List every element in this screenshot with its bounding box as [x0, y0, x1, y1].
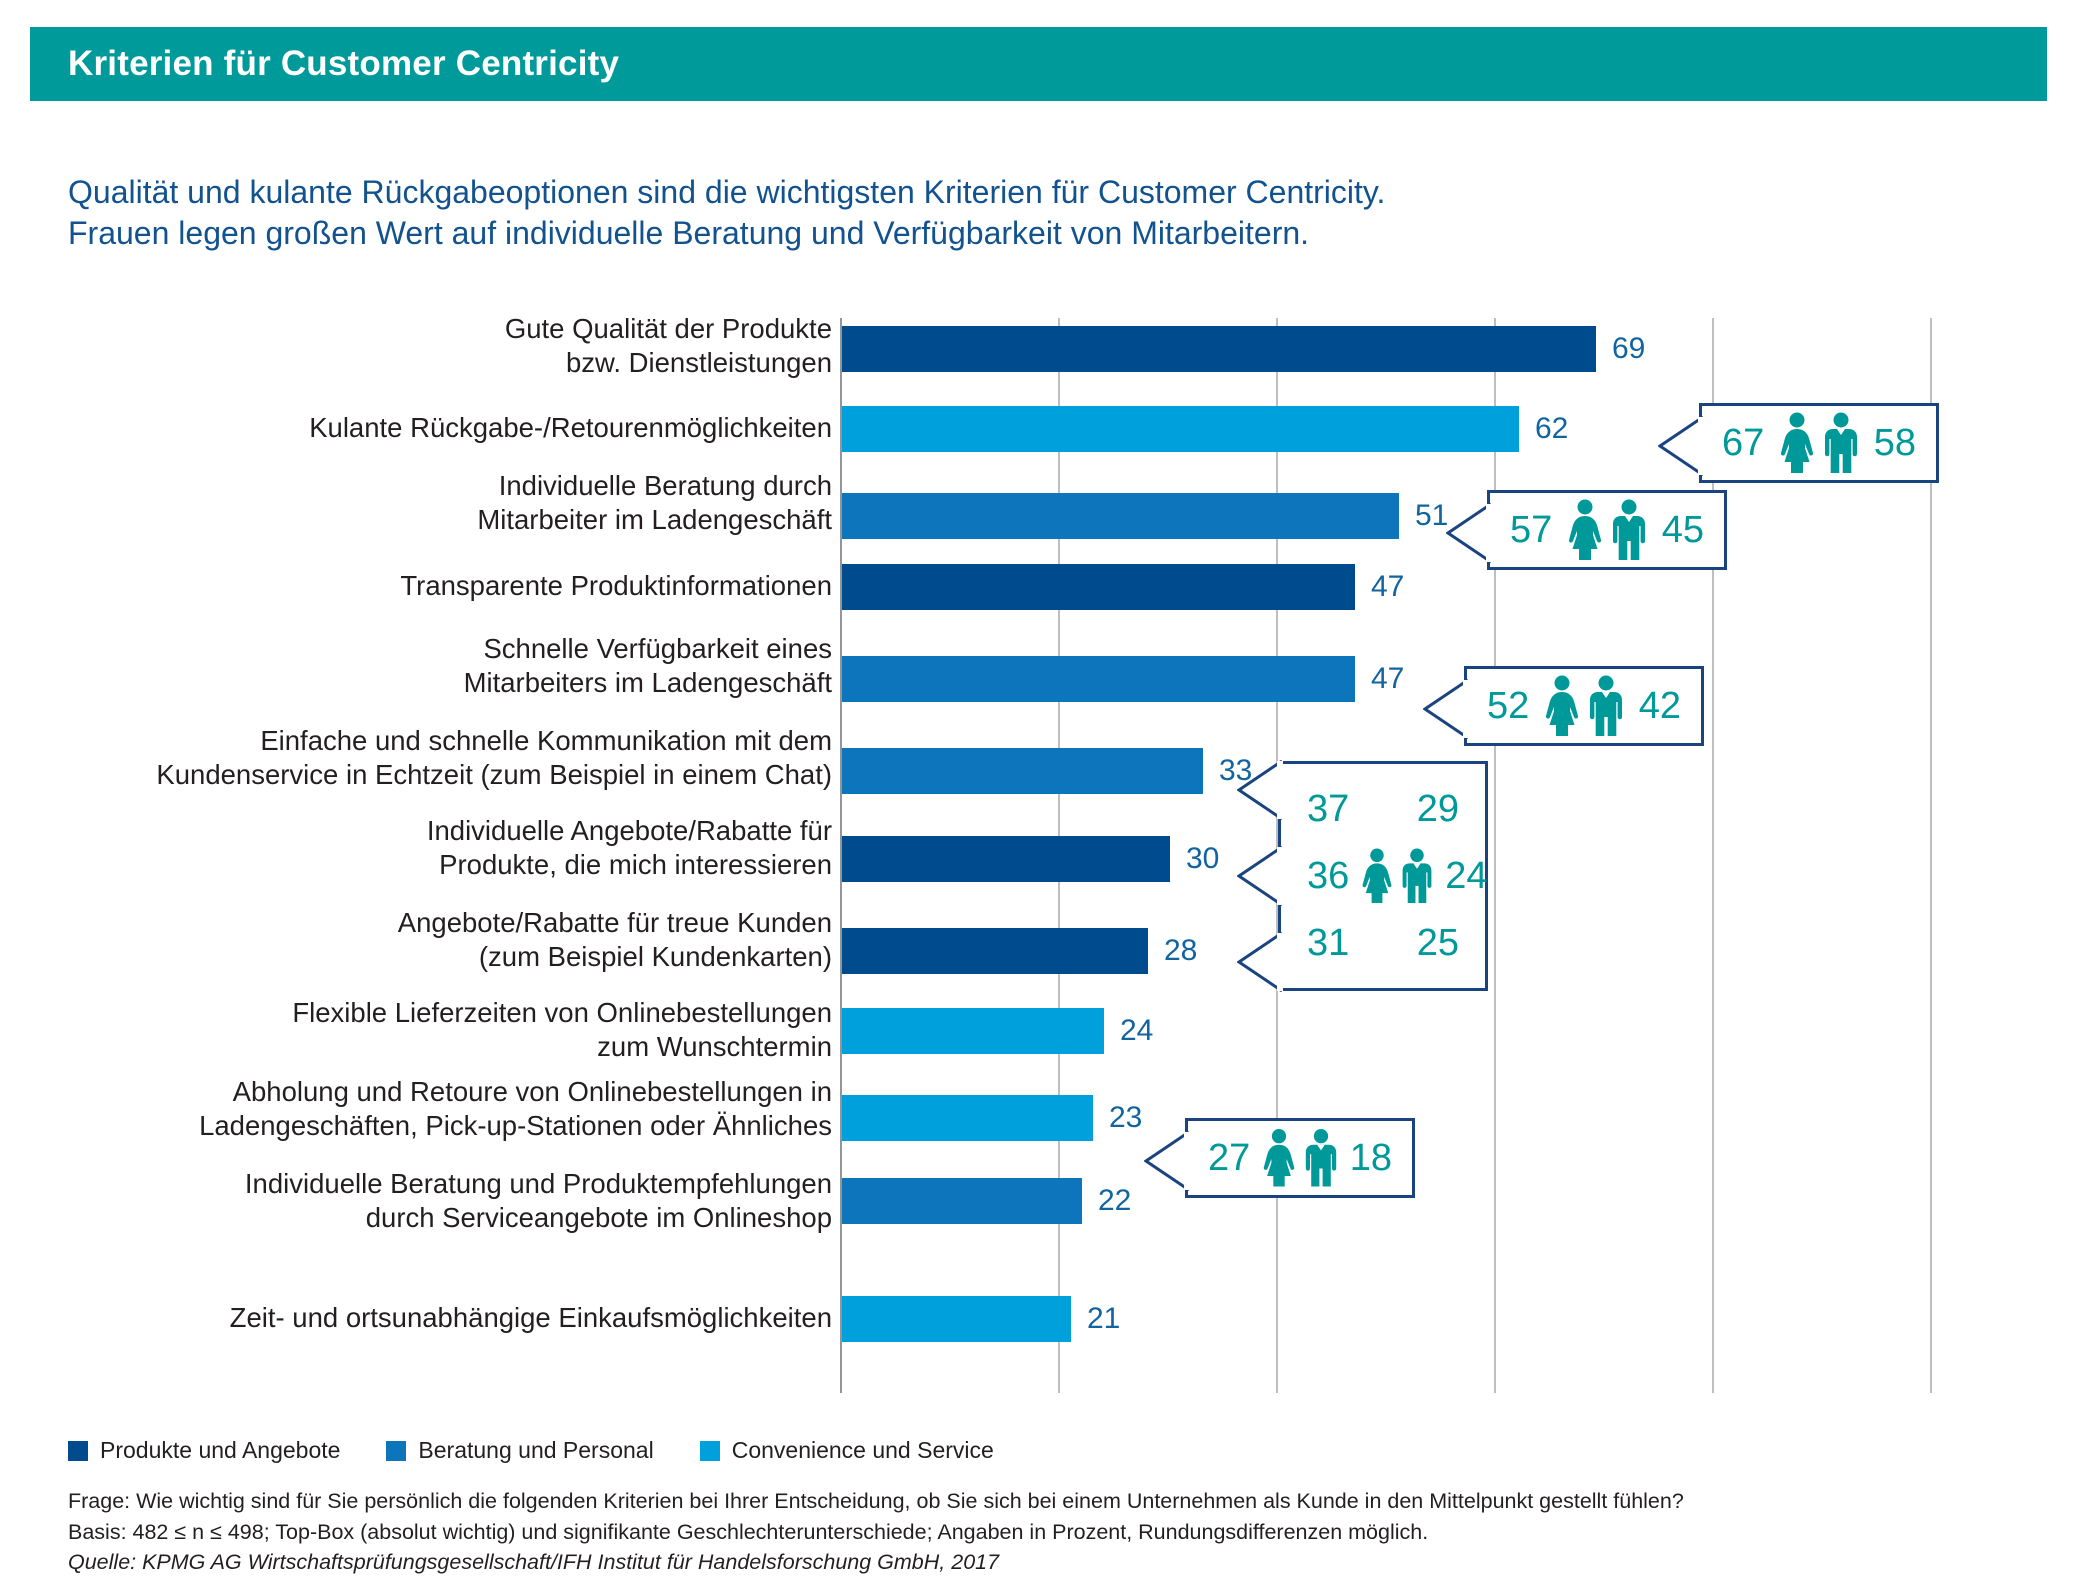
- callout-male-value: 24: [1445, 855, 1487, 898]
- callout-notch: [1423, 679, 1467, 739]
- category-label: Gute Qualität der Produktebzw. Dienstlei…: [2, 312, 832, 380]
- female-icon: [1359, 847, 1395, 905]
- legend-label: Beratung und Personal: [418, 1437, 653, 1464]
- callout-male-value: 18: [1350, 1137, 1392, 1180]
- callout-notch-bottom: [1237, 932, 1281, 992]
- category-label: Abholung und Retoure von Onlinebestellun…: [0, 1075, 832, 1143]
- gender-icons: [1542, 675, 1626, 737]
- category-label-line1: Angebote/Rabatte für treue Kunden: [398, 907, 832, 938]
- callout-notch-top: [1237, 760, 1281, 820]
- bar-chart: Gute Qualität der Produktebzw. Dienstlei…: [0, 318, 2077, 1398]
- gender-callout-individuelle-beratung: 57 45: [1487, 490, 1727, 570]
- gender-callout-triple-group: 37 29 36 24 31 25: [1278, 761, 1488, 991]
- bar-segment: [842, 1296, 1071, 1342]
- legend-swatch-icon: [700, 1441, 720, 1461]
- category-label-line2: bzw. Dienstleistungen: [566, 347, 832, 378]
- gender-icons: [1260, 1128, 1340, 1188]
- footnote-frage: Frage: Wie wichtig sind für Sie persönli…: [68, 1486, 2028, 1517]
- bar-value-label: 69: [1612, 326, 1645, 372]
- female-icon: [1542, 675, 1582, 737]
- category-label-line1: Kulante Rückgabe-/Retourenmöglichkeiten: [309, 412, 832, 443]
- bar-value-label: 62: [1535, 406, 1568, 452]
- category-label: Flexible Lieferzeiten von Onlinebestellu…: [2, 996, 832, 1064]
- bar-value-label: 30: [1186, 836, 1219, 882]
- callout-female-value: 67: [1722, 422, 1764, 465]
- legend-label: Convenience und Service: [732, 1437, 994, 1464]
- callout-female-value: 37: [1307, 788, 1349, 831]
- callout-male-value: 58: [1874, 422, 1916, 465]
- category-label-line2: zum Wunschtermin: [597, 1031, 832, 1062]
- legend-swatch-icon: [386, 1441, 406, 1461]
- legend-item-beratung: Beratung und Personal: [386, 1437, 653, 1464]
- female-icon: [1777, 412, 1817, 474]
- bar-value-label: 24: [1120, 1008, 1153, 1054]
- bar-value-label: 22: [1098, 1178, 1131, 1224]
- footnote-basis: Basis: 482 ≤ n ≤ 498; Top-Box (absolut w…: [68, 1517, 2028, 1548]
- footnote-quelle: Quelle: KPMG AG Wirtschaftsprüfungsgesel…: [68, 1547, 2028, 1578]
- bar-value-label: 47: [1371, 656, 1404, 702]
- callout-row-1: 37 29: [1281, 778, 1485, 840]
- category-label: Transparente Produktinformationen: [2, 569, 832, 603]
- category-label: Kulante Rückgabe-/Retourenmöglichkeiten: [2, 411, 832, 445]
- category-label-line1: Transparente Produktinformationen: [400, 570, 832, 601]
- bar-value-label: 51: [1415, 493, 1448, 539]
- legend-item-convenience: Convenience und Service: [700, 1437, 994, 1464]
- bar-segment: [842, 1095, 1093, 1141]
- male-icon: [1609, 499, 1649, 561]
- gridline-60: [1494, 318, 1496, 1393]
- callout-notch: [1658, 416, 1702, 476]
- callout-male-value: 45: [1662, 509, 1704, 552]
- bar-segment: [842, 1178, 1082, 1224]
- category-label-line2: durch Serviceangebote im Onlineshop: [366, 1202, 832, 1233]
- category-label: Individuelle Beratung durchMitarbeiter i…: [2, 469, 832, 537]
- bar-value-label: 23: [1109, 1095, 1142, 1141]
- subtitle-line-2: Frauen legen großen Wert auf individuell…: [68, 213, 1998, 254]
- category-label-line2: (zum Beispiel Kundenkarten): [479, 941, 832, 972]
- legend-swatch-icon: [68, 1441, 88, 1461]
- category-label-line2: Mitarbeiters im Ladengeschäft: [464, 667, 832, 698]
- category-label-line1: Abholung und Retoure von Onlinebestellun…: [233, 1076, 832, 1107]
- callout-notch-mid: [1237, 846, 1281, 906]
- callout-female-value: 36: [1307, 855, 1349, 898]
- gender-callout-kulante-rueckgabe: 67 58: [1699, 403, 1939, 483]
- category-label-line1: Individuelle Beratung durch: [499, 470, 832, 501]
- gender-callout-abholung-retoure: 27 18: [1185, 1118, 1415, 1198]
- bar-segment: [842, 656, 1355, 702]
- category-label: Individuelle Angebote/Rabatte fürProdukt…: [2, 814, 832, 882]
- bar-value-label: 47: [1371, 564, 1404, 610]
- subtitle-line-1: Qualität und kulante Rückgabeoptionen si…: [68, 172, 1998, 213]
- bar-value-label: 28: [1164, 928, 1197, 974]
- footnotes: Frage: Wie wichtig sind für Sie persönli…: [68, 1486, 2028, 1578]
- category-label: Einfache und schnelle Kommunikation mit …: [0, 724, 832, 792]
- male-icon: [1586, 675, 1626, 737]
- male-icon: [1399, 847, 1435, 905]
- female-icon: [1260, 1128, 1298, 1188]
- gender-icons: [1777, 412, 1861, 474]
- callout-notch: [1446, 503, 1490, 563]
- category-label-line1: Einfache und schnelle Kommunikation mit …: [260, 725, 832, 756]
- category-label-line1: Individuelle Angebote/Rabatte für: [427, 815, 832, 846]
- female-icon: [1565, 499, 1605, 561]
- category-label-line1: Flexible Lieferzeiten von Onlinebestellu…: [292, 997, 832, 1028]
- bar-segment: [842, 493, 1399, 539]
- callout-notch: [1144, 1131, 1188, 1191]
- bar-segment: [842, 406, 1519, 452]
- callout-female-value: 52: [1487, 685, 1529, 728]
- callout-female-value: 31: [1307, 922, 1349, 965]
- male-icon: [1821, 412, 1861, 474]
- category-label-line1: Individuelle Beratung und Produktempfehl…: [245, 1168, 832, 1199]
- gender-callout-schnelle-verfuegbarkeit: 52 42: [1464, 666, 1704, 746]
- callout-female-value: 57: [1510, 509, 1552, 552]
- callout-female-value: 27: [1208, 1137, 1250, 1180]
- bar-segment: [842, 928, 1148, 974]
- bar-segment: [842, 564, 1355, 610]
- bar-segment: [842, 326, 1596, 372]
- category-label-line2: Produkte, die mich interessieren: [439, 849, 832, 880]
- callout-male-value: 42: [1639, 685, 1681, 728]
- gender-icons: [1565, 499, 1649, 561]
- page-title: Kriterien für Customer Centricity: [30, 44, 619, 84]
- category-label-line2: Mitarbeiter im Ladengeschäft: [477, 504, 832, 535]
- category-label: Angebote/Rabatte für treue Kunden(zum Be…: [2, 906, 832, 974]
- subtitle: Qualität und kulante Rückgabeoptionen si…: [68, 172, 1998, 254]
- bar-segment: [842, 748, 1203, 794]
- gender-icons: [1349, 847, 1445, 905]
- category-label-line1: Schnelle Verfügbarkeit eines: [483, 633, 832, 664]
- chart-legend: Produkte und Angebote Beratung und Perso…: [68, 1437, 1040, 1464]
- male-icon: [1302, 1128, 1340, 1188]
- bar-segment: [842, 1008, 1104, 1054]
- legend-item-produkte: Produkte und Angebote: [68, 1437, 340, 1464]
- category-label: Schnelle Verfügbarkeit einesMitarbeiters…: [2, 632, 832, 700]
- category-label-line2: Ladengeschäften, Pick-up-Stationen oder …: [199, 1110, 832, 1141]
- callout-row-2: 36 24: [1281, 845, 1485, 907]
- bar-segment: [842, 836, 1170, 882]
- category-label: Individuelle Beratung und Produktempfehl…: [2, 1167, 832, 1235]
- callout-male-value: 29: [1417, 788, 1459, 831]
- callout-male-value: 25: [1417, 922, 1459, 965]
- category-label-line1: Gute Qualität der Produkte: [505, 313, 832, 344]
- category-label-line1: Zeit- und ortsunabhängige Einkaufsmöglic…: [230, 1302, 832, 1333]
- category-label-line2: Kundenservice in Echtzeit (zum Beispiel …: [156, 759, 832, 790]
- category-label: Zeit- und ortsunabhängige Einkaufsmöglic…: [2, 1301, 832, 1335]
- legend-label: Produkte und Angebote: [100, 1437, 340, 1464]
- header-bar: Kriterien für Customer Centricity: [30, 27, 2047, 101]
- bar-value-label: 21: [1087, 1296, 1120, 1342]
- callout-row-3: 31 25: [1281, 912, 1485, 974]
